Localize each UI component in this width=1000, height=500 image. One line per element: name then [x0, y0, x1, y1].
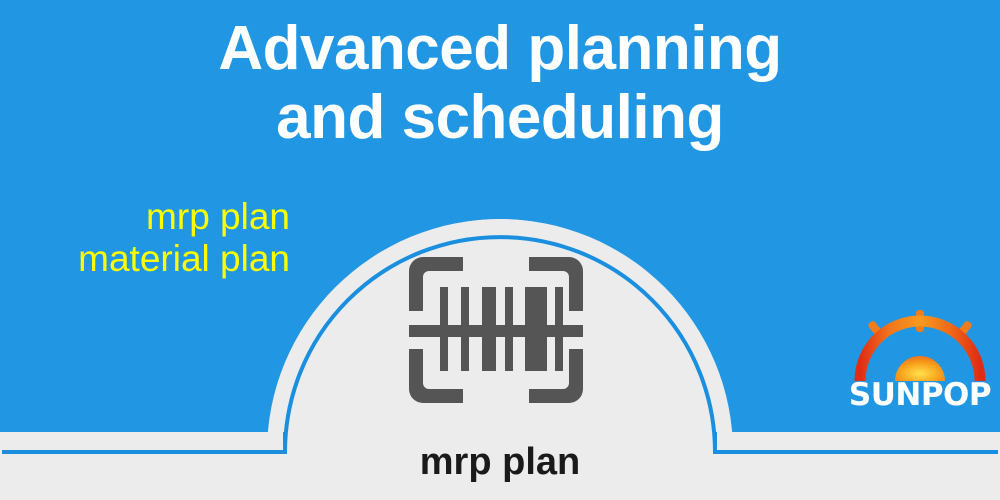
bracket-bottom-left-icon — [409, 349, 463, 403]
subtitle-keywords: mrp plan material plan — [0, 196, 290, 280]
barcode-bar — [440, 287, 448, 371]
barcode-bar — [482, 287, 496, 371]
logo-wordmark: SUNPOP — [845, 377, 995, 413]
sunpop-logo[interactable]: SUNPOP — [845, 305, 995, 423]
bracket-top-left-icon — [409, 257, 463, 311]
barcode-bar — [461, 287, 469, 371]
barcode-bar — [505, 287, 513, 371]
icon-caption: mrp plan — [350, 441, 650, 484]
barcode-bar — [555, 287, 563, 371]
sun-rising-icon — [845, 305, 995, 385]
barcode-bar — [525, 287, 547, 371]
promo-banner: Advanced planning and scheduling mrp pla… — [0, 0, 1000, 500]
barcode-scan-icon — [403, 251, 589, 409]
